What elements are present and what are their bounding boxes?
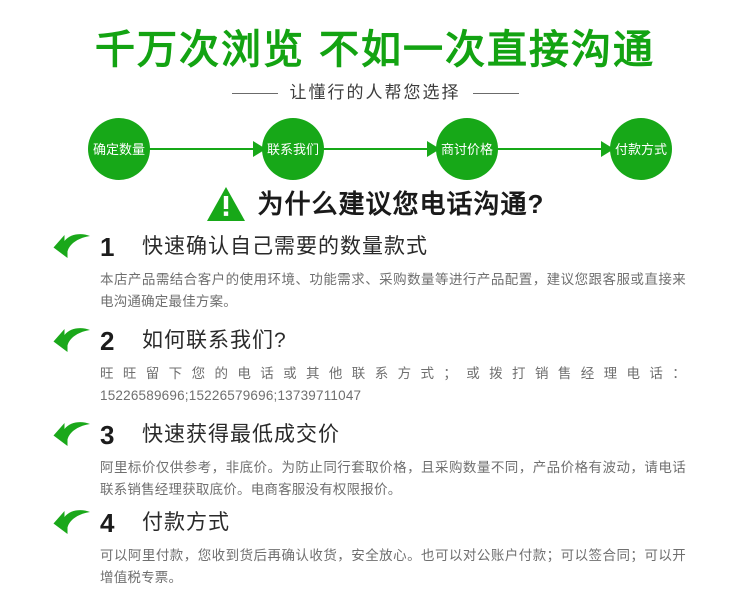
item-1-title: 快速确认自己需要的数量款式 <box>134 232 428 262</box>
item-4-number: 4 <box>92 508 134 538</box>
item-3-number: 3 <box>92 420 134 450</box>
warning-triangle-icon <box>206 186 246 222</box>
curved-arrow-icon <box>52 232 92 262</box>
headline-left: 千万次浏览 <box>95 28 305 72</box>
flow-connector-2 <box>320 118 440 180</box>
item-3-title: 快速获得最低成交价 <box>134 420 340 450</box>
flow-node-4: 付款方式 <box>610 118 672 180</box>
flow-node-2: 联系我们 <box>262 118 324 180</box>
flow-node-3-label: 商讨价格 <box>441 142 493 157</box>
item-2-head: 2 如何联系我们? <box>52 324 702 358</box>
headline-right: 不如一次直接沟通 <box>319 28 655 72</box>
why-heading-text: 为什么建议您电话沟通? <box>258 188 545 220</box>
item-2-number: 2 <box>92 326 134 356</box>
list-item: 1 快速确认自己需要的数量款式 本店产品需结合客户的使用环境、功能需求、采购数量… <box>52 230 702 313</box>
flow-node-1: 确定数量 <box>88 118 150 180</box>
item-1-number: 1 <box>92 232 134 262</box>
list-item: 2 如何联系我们? 旺旺留下您的电话或其他联系方式；或拨打销售经理电话：1522… <box>52 324 702 407</box>
item-2-body: 旺旺留下您的电话或其他联系方式；或拨打销售经理电话：15226589696;15… <box>100 363 686 407</box>
curved-arrow-icon <box>52 508 92 538</box>
flow-line-3 <box>494 148 601 150</box>
flow-connector-1 <box>146 118 266 180</box>
curved-arrow-icon <box>52 420 92 450</box>
page-title: 千万次浏览不如一次直接沟通 <box>0 26 750 74</box>
flow-node-3: 商讨价格 <box>436 118 498 180</box>
item-2-title: 如何联系我们? <box>134 326 287 356</box>
item-4-head: 4 付款方式 <box>52 506 702 540</box>
flow-connector-3 <box>494 118 614 180</box>
subtitle-rule-right <box>473 93 519 94</box>
promo-banner: 千万次浏览不如一次直接沟通 让懂行的人帮您选择 确定数量 联系我们 商讨价格 <box>0 0 750 606</box>
list-item: 4 付款方式 可以阿里付款，您收到货后再确认收货，安全放心。也可以对公账户付款；… <box>52 506 702 589</box>
item-3-body: 阿里标价仅供参考，非底价。为防止同行套取价格，且采购数量不同，产品价格有波动，请… <box>100 457 686 501</box>
why-heading: 为什么建议您电话沟通? <box>0 186 750 222</box>
flow-line-1 <box>146 148 253 150</box>
item-4-body: 可以阿里付款，您收到货后再确认收货，安全放心。也可以对公账户付款；可以签合同；可… <box>100 545 686 589</box>
subtitle-text: 让懂行的人帮您选择 <box>290 82 461 104</box>
subtitle-rule-left <box>232 93 278 94</box>
flow-node-2-label: 联系我们 <box>267 142 319 157</box>
item-3-head: 3 快速获得最低成交价 <box>52 418 702 452</box>
flow-node-1-label: 确定数量 <box>93 142 145 157</box>
item-1-body: 本店产品需结合客户的使用环境、功能需求、采购数量等进行产品配置，建议您跟客服或直… <box>100 269 686 313</box>
subtitle-row: 让懂行的人帮您选择 <box>0 82 750 104</box>
item-4-title: 付款方式 <box>134 508 230 538</box>
list-item: 3 快速获得最低成交价 阿里标价仅供参考，非底价。为防止同行套取价格，且采购数量… <box>52 418 702 501</box>
flow-line-2 <box>320 148 427 150</box>
process-flow: 确定数量 联系我们 商讨价格 付款方式 <box>88 118 672 180</box>
flow-node-4-label: 付款方式 <box>615 142 667 157</box>
item-1-head: 1 快速确认自己需要的数量款式 <box>52 230 702 264</box>
curved-arrow-icon <box>52 326 92 356</box>
